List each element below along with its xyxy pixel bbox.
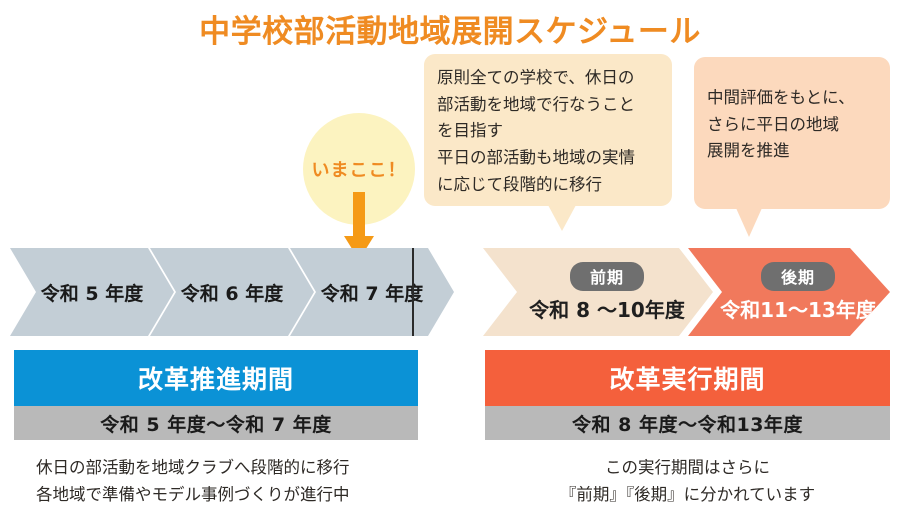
infographic-canvas: 中学校部活動地域展開スケジュール 原則全ての学校で、休日の 部活動を地域で行なう… bbox=[0, 0, 900, 523]
timeline-chevron-reiwa6-label: 令和 6 年度 bbox=[181, 279, 283, 306]
period-title-reform-execution: 改革実行期間 bbox=[485, 350, 890, 406]
footnote-right: この実行期間はさらに 『前期』『後期』に分かれています bbox=[485, 455, 890, 508]
timeline-chevron-reiwa5-label: 令和 5 年度 bbox=[41, 279, 143, 306]
footnote-left: 休日の部活動を地域クラブへ段階的に移行 各地域で準備やモデル事例づくりが進行中 bbox=[14, 455, 418, 508]
callout-b-tail-icon bbox=[736, 208, 762, 237]
callout-bubble-weekday-transition: 原則全ての学校で、休日の 部活動を地域で行なうこと を目指す 平日の部活動も地域… bbox=[424, 54, 672, 206]
page-title: 中学校部活動地域展開スケジュール bbox=[0, 6, 900, 51]
callout-a-line-2: 部活動を地域で行なうこと bbox=[437, 92, 659, 119]
timeline-chevron-reiwa7-label: 令和 7 年度 bbox=[321, 279, 423, 306]
footnote-left-line-1: 休日の部活動を地域クラブへ段階的に移行 bbox=[36, 455, 418, 482]
timeline-chevron-kouki: 後期 令和11～13年度 bbox=[688, 248, 890, 336]
period-range-reform-promotion: 令和 5 年度～令和 7 年度 bbox=[14, 406, 418, 440]
now-marker-label: いまここ！ bbox=[312, 156, 407, 182]
timeline-chevron-reiwa7: 令和 7 年度 bbox=[290, 248, 454, 336]
footnote-left-line-2: 各地域で準備やモデル事例づくりが進行中 bbox=[36, 482, 418, 509]
stage-badge-zenki: 前期 bbox=[570, 262, 644, 291]
callout-a-line-4: 平日の部活動も地域の実情 bbox=[437, 145, 659, 172]
callout-b-line-2: さらに平日の地域 bbox=[707, 112, 877, 139]
timeline-chevron-reiwa5: 令和 5 年度 bbox=[10, 248, 174, 336]
stage-year-kouki: 令和11～13年度 bbox=[720, 294, 876, 323]
callout-a-line-5: に応じて段階的に移行 bbox=[437, 172, 659, 199]
footnote-right-line-2: 『前期』『後期』に分かれています bbox=[485, 482, 890, 509]
footnote-right-line-1: この実行期間はさらに bbox=[485, 455, 890, 482]
callout-b-line-1: 中間評価をもとに、 bbox=[707, 85, 877, 112]
timeline-chevron-reiwa6: 令和 6 年度 bbox=[150, 248, 314, 336]
callout-a-line-1: 原則全ての学校で、休日の bbox=[437, 65, 659, 92]
callout-b-line-3: 展開を推進 bbox=[707, 138, 877, 165]
period-title-reform-promotion: 改革推進期間 bbox=[14, 350, 418, 406]
stage-year-zenki: 令和 8 ～10年度 bbox=[529, 294, 685, 323]
stage-badge-kouki: 後期 bbox=[761, 262, 835, 291]
timeline-chevron-zenki: 前期 令和 8 ～10年度 bbox=[483, 248, 713, 336]
text-cursor-caret bbox=[412, 248, 414, 336]
callout-bubble-midterm-review: 中間評価をもとに、 さらに平日の地域 展開を推進 bbox=[694, 57, 890, 209]
period-range-reform-execution: 令和 8 年度～令和13年度 bbox=[485, 406, 890, 440]
callout-a-tail-icon bbox=[548, 205, 576, 231]
callout-a-line-3: を目指す bbox=[437, 118, 659, 145]
